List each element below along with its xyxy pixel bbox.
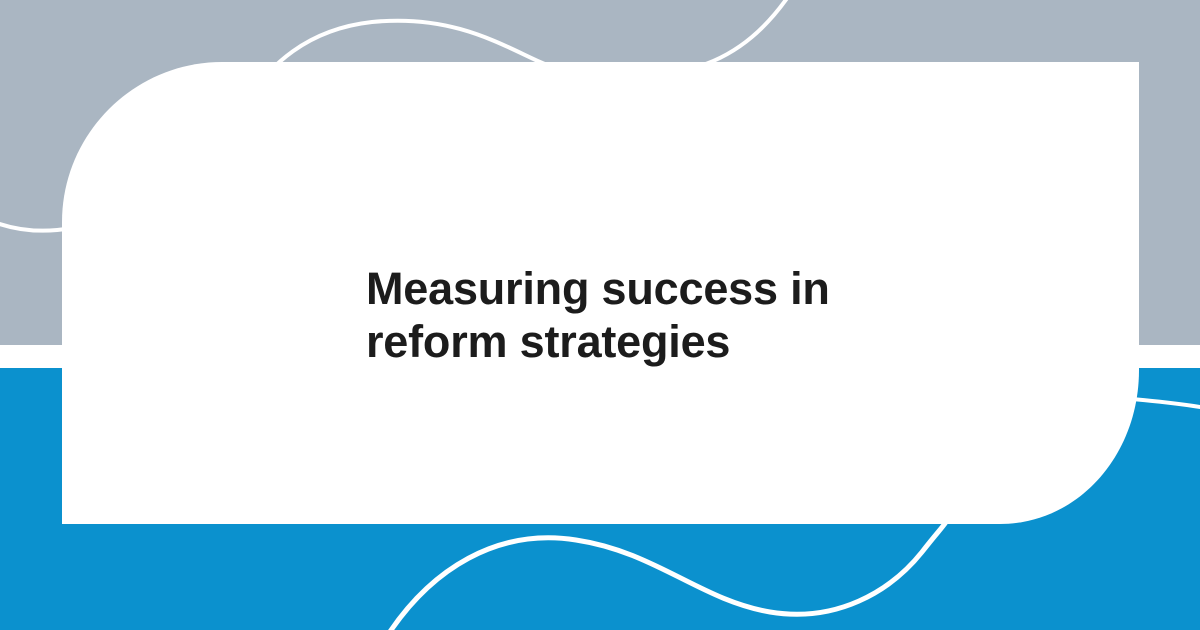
banner-container: Measuring success in reform strategies (0, 0, 1200, 630)
content-card (62, 62, 1139, 524)
banner-artwork (0, 0, 1200, 630)
